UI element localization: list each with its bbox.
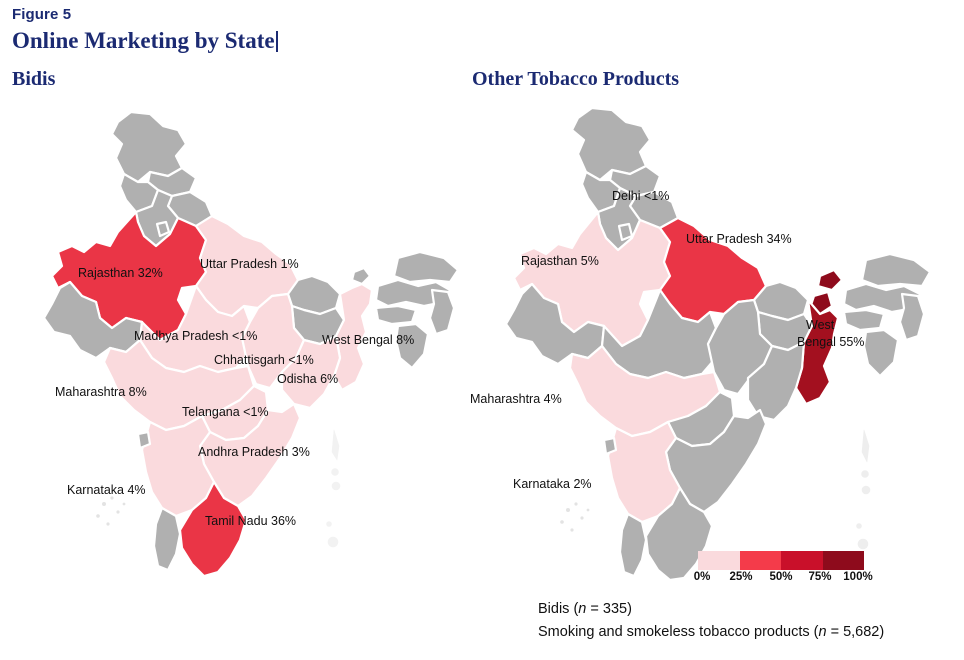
- legend-colorbar: 0% 25% 50% 75% 100%: [698, 551, 864, 586]
- map-label-karnataka: Karnataka 4%: [67, 483, 146, 497]
- state-meghalaya: [844, 310, 884, 330]
- state-meghalaya: [376, 306, 416, 324]
- andaman-islands: [857, 430, 871, 549]
- map-label-rajasthan: Rajasthan 32%: [78, 266, 163, 280]
- map-label-delhi-right: Delhi <1%: [612, 189, 669, 203]
- map-label-andhra-pradesh: Andhra Pradesh 3%: [198, 445, 310, 459]
- state-sikkim: [818, 270, 842, 290]
- map-label-tamil-nadu: Tamil Nadu 36%: [205, 514, 296, 528]
- map-label-uttar-pradesh: Uttar Pradesh 1%: [200, 257, 299, 271]
- legend-tick-25: 25%: [729, 571, 752, 583]
- page-title: Online Marketing by State: [12, 28, 278, 54]
- map-label-west-bengal: West Bengal 8%: [322, 333, 414, 347]
- state-goa: [138, 432, 150, 448]
- map-label-uttar-pradesh-right: Uttar Pradesh 34%: [686, 232, 792, 246]
- legend-tick-75: 75%: [808, 571, 831, 583]
- state-kerala: [154, 508, 180, 570]
- footnote-bidis-prefix: Bidis (: [538, 601, 578, 617]
- state-manipur-nagaland: [900, 294, 924, 340]
- legend-tick-labels: 0% 25% 50% 75% 100%: [698, 570, 864, 586]
- state-manipur-nagaland: [430, 290, 454, 334]
- legend-band-25-50: [740, 551, 782, 570]
- map-label-madhya-pradesh: Madhya Pradesh <1%: [134, 329, 257, 343]
- legend-tick-0: 0%: [694, 571, 711, 583]
- state-arunachal: [862, 254, 930, 286]
- state-arunachal: [394, 252, 458, 282]
- map-label-maharashtra: Maharashtra 8%: [55, 385, 147, 399]
- andaman-islands: [327, 430, 341, 547]
- lakshadweep-islands: [96, 496, 125, 525]
- state-delhi: [157, 222, 169, 236]
- footnote-bidis: Bidis (n = 335): [538, 598, 884, 621]
- map-other-tobacco[interactable]: [460, 100, 964, 580]
- state-delhi: [619, 224, 632, 240]
- page-title-text: Online Marketing by State: [12, 28, 275, 53]
- map-label-rajasthan-right: Rajasthan 5%: [521, 254, 599, 268]
- legend-band-75-100: [823, 551, 865, 570]
- footnotes: Bidis (n = 335) Smoking and smokeless to…: [538, 598, 884, 644]
- map-label-west-bengal-line2: Bengal 55%: [797, 335, 864, 349]
- legend-tick-50: 50%: [769, 571, 792, 583]
- figure-label: Figure 5: [12, 6, 71, 23]
- footnote-other-prefix: Smoking and smokeless tobacco products (: [538, 624, 818, 640]
- panel-title-bidis: Bidis: [12, 68, 55, 91]
- legend-tick-100: 100%: [843, 571, 872, 583]
- map-label-chhattisgarh: Chhattisgarh <1%: [214, 353, 314, 367]
- text-cursor: [276, 31, 278, 52]
- panel-title-other-tobacco: Other Tobacco Products: [472, 68, 679, 91]
- footnote-other-n: n: [818, 624, 826, 640]
- state-sikkim: [352, 268, 370, 284]
- map-label-karnataka-right: Karnataka 2%: [513, 477, 592, 491]
- legend-band-0-25: [698, 551, 740, 570]
- lakshadweep-islands: [560, 502, 589, 531]
- footnote-other-tobacco: Smoking and smokeless tobacco products (…: [538, 621, 884, 644]
- map-label-telangana: Telangana <1%: [182, 405, 269, 419]
- state-kerala: [620, 514, 646, 576]
- map-label-maharashtra-right: Maharashtra 4%: [470, 392, 562, 406]
- map-label-west-bengal-line1: West: [806, 318, 834, 332]
- legend-band-50-75: [781, 551, 823, 570]
- map-label-odisha: Odisha 6%: [277, 372, 338, 386]
- state-tripura-mizoram: [864, 330, 898, 376]
- footnote-bidis-suffix: = 335): [586, 601, 632, 617]
- footnote-other-suffix: = 5,682): [827, 624, 885, 640]
- state-goa: [604, 438, 616, 454]
- legend-bands: [698, 551, 864, 570]
